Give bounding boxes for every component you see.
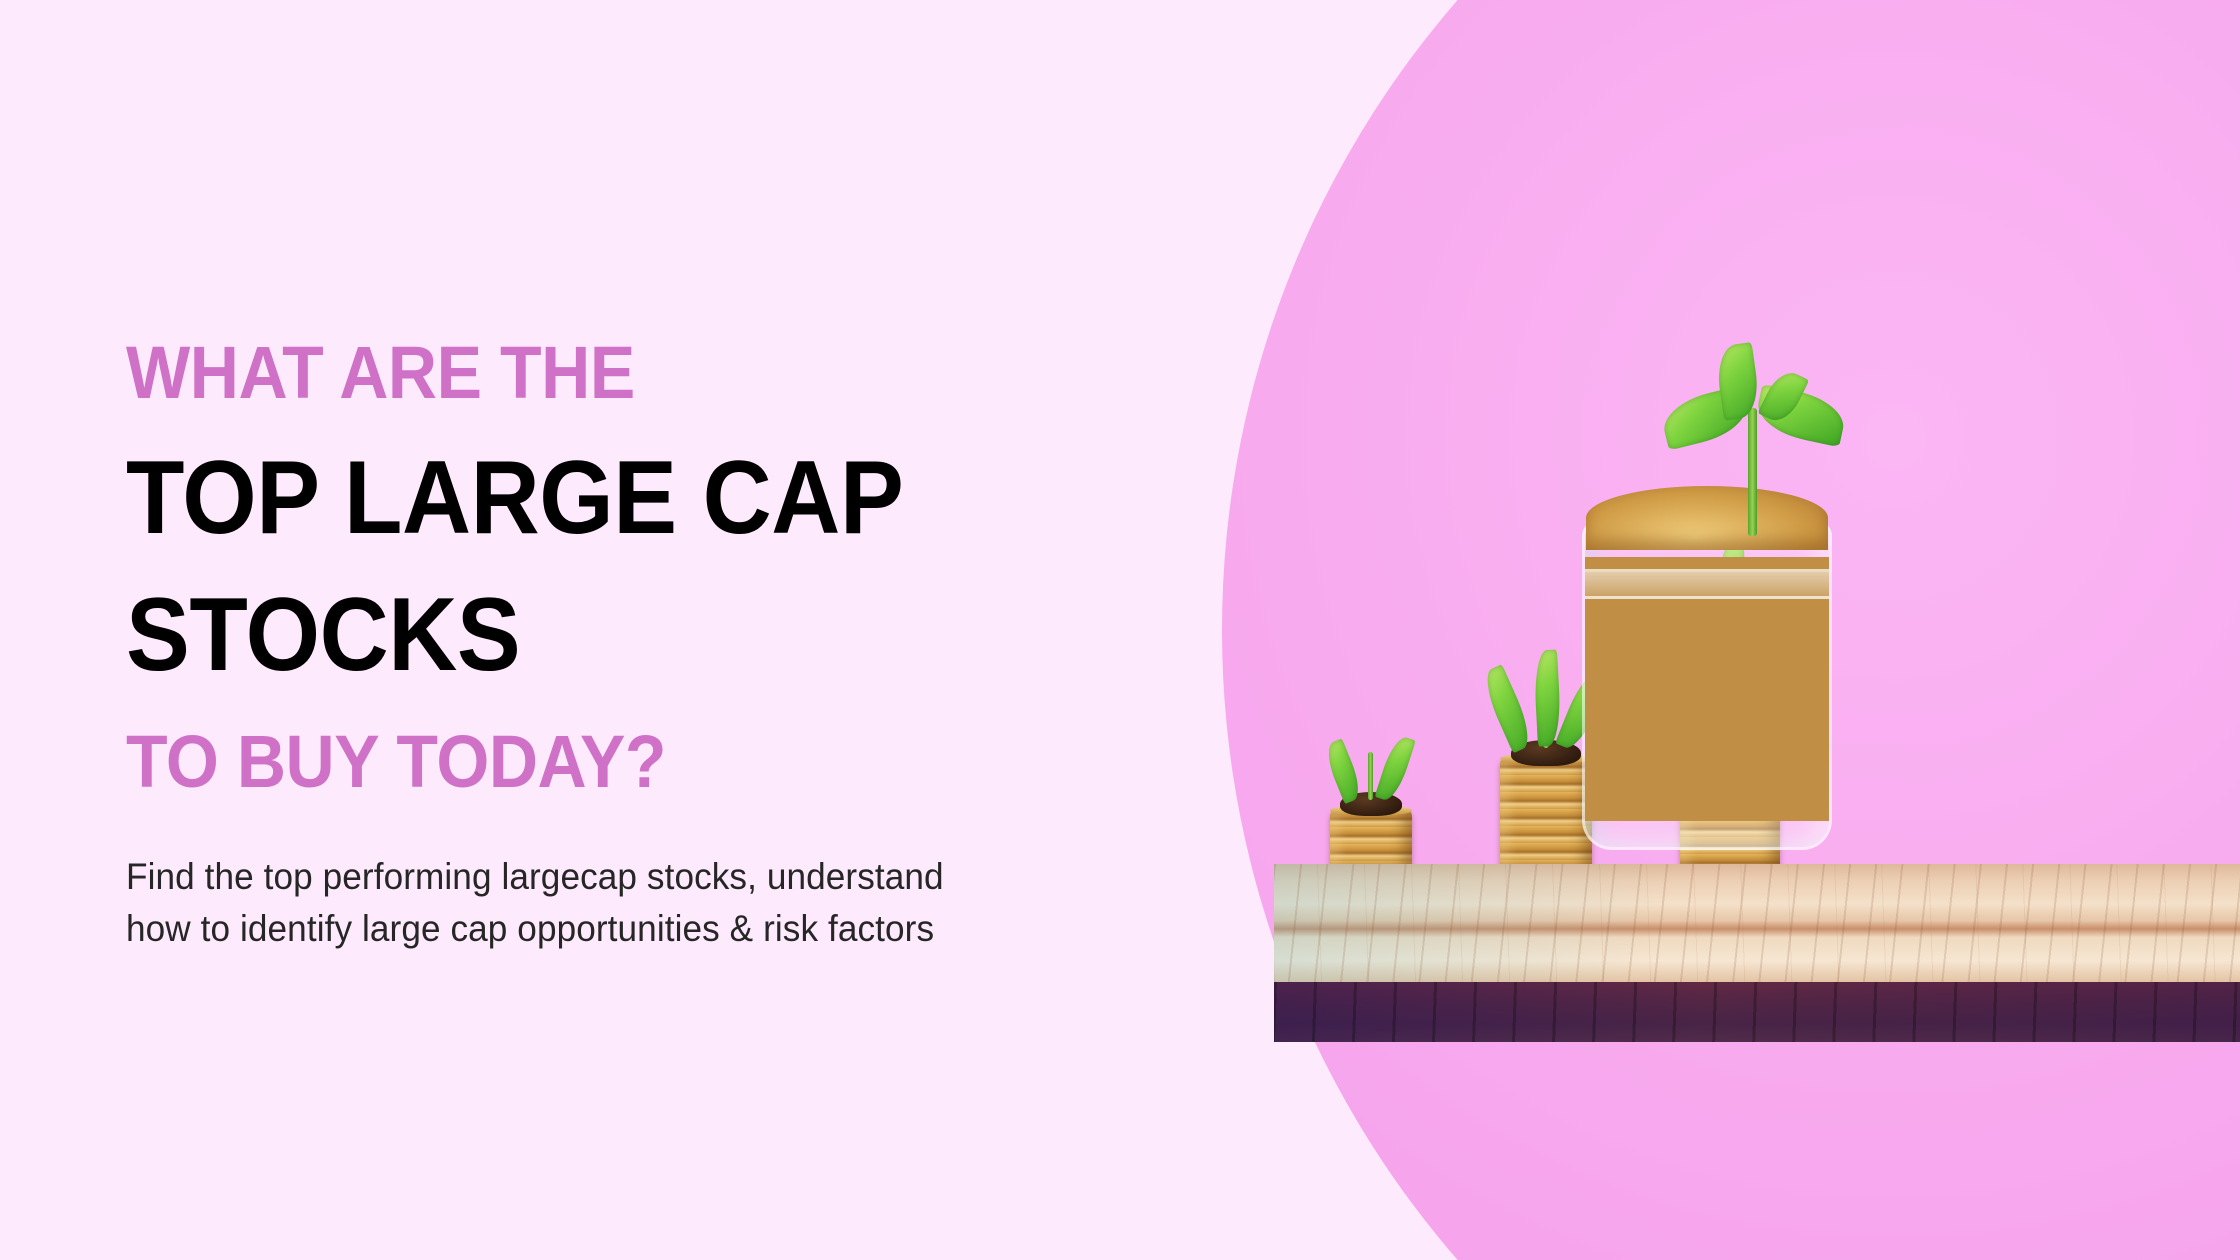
copy-block: WHAT ARE THE TOP LARGE CAP STOCKS TO BUY…	[126, 336, 1186, 956]
body-copy-text: Find the top performing largecap stocks,…	[126, 851, 1133, 956]
wooden-plank-top	[1274, 864, 2240, 982]
photo-block	[1274, 864, 2240, 1042]
coin-stack-1-coins	[1330, 810, 1412, 870]
coin-stack-2-coins	[1500, 758, 1592, 870]
coin-stack-1-stem	[1368, 752, 1373, 800]
wooden-plank-edge	[1274, 982, 2240, 1042]
coin-jar	[1582, 520, 1832, 850]
coin-stack-2-leaf-mid	[1533, 650, 1562, 747]
kicker-text: WHAT ARE THE	[126, 336, 1101, 410]
headline-line-1: TOP LARGE CAP	[126, 430, 1101, 567]
coin-stack-1-leaf-right	[1375, 734, 1416, 804]
coin-jar-plant-stem	[1748, 408, 1757, 536]
coin-stack-2-leaf-left	[1478, 664, 1537, 753]
coin-jar-plant	[1660, 366, 1840, 536]
headline-line-2: STOCKS	[126, 567, 1101, 704]
coin-stack-1	[1330, 740, 1412, 870]
coin-jar-neck	[1582, 569, 1832, 599]
coin-stack-2	[1500, 652, 1592, 870]
hero-banner: WHAT ARE THE TOP LARGE CAP STOCKS TO BUY…	[0, 0, 2240, 1260]
tagline-text: TO BUY TODAY?	[126, 725, 1101, 799]
